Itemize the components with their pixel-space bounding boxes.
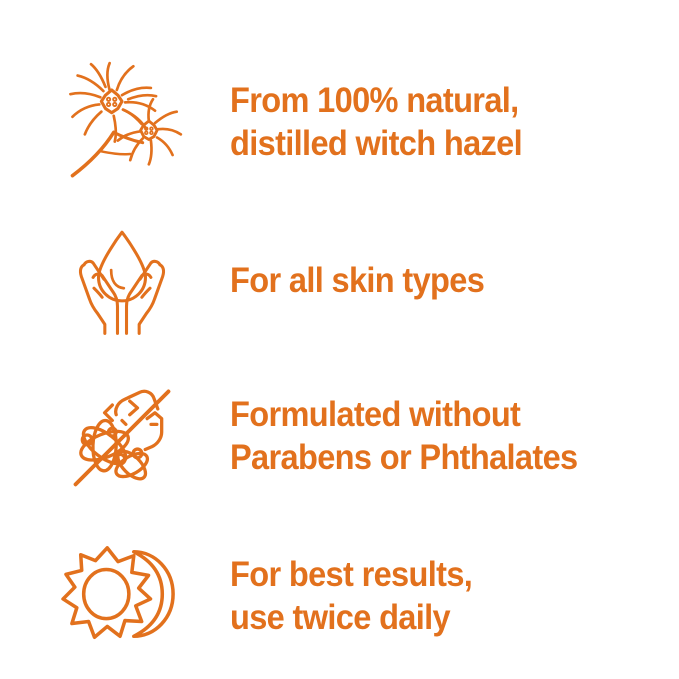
feature-text: For all skin types [230,259,484,302]
product-feature-infographic: From 100% natural, distilled witch hazel [0,0,679,679]
feature-text: Formulated without Parabens or Phthalate… [230,393,577,479]
sun-and-moon-icon [56,534,188,658]
witch-hazel-flower-icon [56,60,188,184]
feature-row: For all skin types [0,206,679,356]
hands-holding-droplet-icon [56,219,188,343]
feature-text: From 100% natural, distilled witch hazel [230,79,522,165]
feature-row: Formulated without Parabens or Phthalate… [0,356,679,516]
feature-text: For best results, use twice daily [230,553,472,639]
feature-row: From 100% natural, distilled witch hazel [0,38,679,206]
feature-row: For best results, use twice daily [0,516,679,676]
no-chemicals-molecule-icon [56,374,188,498]
